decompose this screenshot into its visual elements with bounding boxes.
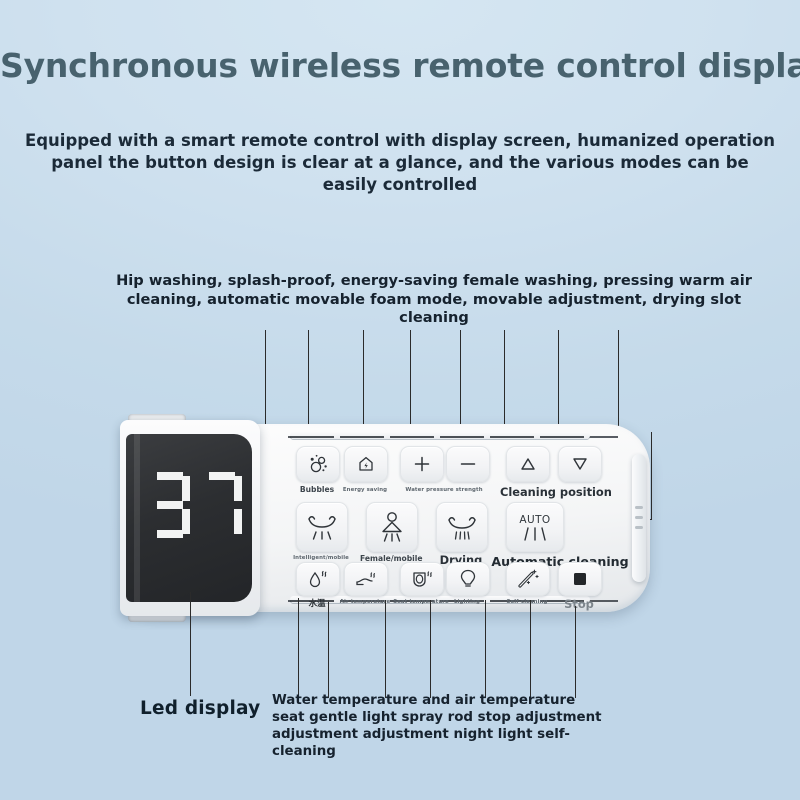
button-air-temperature[interactable] [344, 562, 388, 596]
button-self-cleaning[interactable] [506, 562, 550, 596]
page-root: Synchronous wireless remote control disp… [0, 0, 800, 800]
triangle-up-icon [518, 455, 538, 473]
button-pressure-plus[interactable] [400, 446, 444, 482]
button-lighting[interactable] [446, 562, 490, 596]
button-intelligent-mobile[interactable] [296, 502, 348, 552]
bubbles-icon [307, 454, 329, 474]
label-self-cleaning: Self-cleaning [498, 599, 556, 605]
auto-text: AUTO [519, 514, 550, 526]
led-digit-2 [202, 472, 242, 538]
seat-temp-icon [411, 569, 433, 589]
label-energy-saving: Energy saving [340, 487, 390, 493]
button-automatic-cleaning[interactable]: AUTO [506, 502, 564, 552]
button-position-down[interactable] [558, 446, 602, 482]
button-pressure-minus[interactable] [446, 446, 490, 482]
led-screen: 37 [126, 434, 252, 602]
leader-line-bottom-5 [485, 600, 486, 698]
annotation-bottom: Water temperature and air temperature se… [272, 692, 602, 761]
remote-side-rail [632, 454, 646, 582]
button-position-up[interactable] [506, 446, 550, 482]
plus-icon [412, 454, 432, 474]
led-display-frame: 37 [120, 420, 260, 616]
stop-square-icon [571, 570, 589, 588]
label-water-pressure-strength: Water pressure strength [392, 487, 496, 493]
lamp-icon [459, 568, 477, 590]
led-digit-1 [150, 472, 190, 538]
leader-line-bottom-led [190, 592, 191, 696]
remote-control: 37 Bubbles Energy saving [120, 414, 660, 622]
button-bubbles[interactable] [296, 446, 340, 482]
leader-line-bottom-2 [328, 602, 329, 698]
page-subtitle: Equipped with a smart remote control wit… [24, 130, 776, 196]
button-seat-temperature[interactable] [400, 562, 444, 596]
button-female-mobile[interactable] [366, 502, 418, 552]
water-drop-heat-icon [307, 569, 329, 589]
rear-wash-icon [305, 512, 339, 542]
label-intelligent-mobile: Intelligent/mobile [288, 555, 354, 561]
drying-icon [445, 512, 479, 542]
minus-icon [458, 454, 478, 474]
led-digits [150, 472, 242, 538]
leader-line-bottom-4 [430, 600, 431, 698]
annotation-led-display: Led display [140, 698, 260, 719]
auto-icon [520, 527, 550, 541]
female-wash-icon [377, 511, 407, 543]
energy-saving-icon [356, 454, 376, 474]
label-cleaning-position: Cleaning position [500, 485, 610, 499]
button-energy-saving[interactable] [344, 446, 388, 482]
button-stop[interactable] [558, 562, 602, 596]
label-water-temperature: 水温 [296, 597, 338, 609]
button-water-temperature[interactable] [296, 562, 340, 596]
nozzle-clean-icon [516, 568, 540, 590]
button-drying[interactable] [436, 502, 488, 552]
leader-line-bottom-7 [575, 606, 576, 698]
label-stop: Stop [552, 597, 606, 611]
air-temp-icon [354, 570, 378, 588]
leader-line-bottom-3 [385, 600, 386, 698]
label-bubbles: Bubbles [296, 485, 338, 494]
page-title: Synchronous wireless remote control disp… [0, 46, 800, 85]
annotation-top: Hip washing, splash-proof, energy-saving… [104, 272, 764, 328]
triangle-down-icon [570, 455, 590, 473]
leader-line-bottom-6 [530, 600, 531, 698]
remote-top-strip [290, 432, 590, 439]
leader-line-bottom-1 [298, 598, 299, 698]
